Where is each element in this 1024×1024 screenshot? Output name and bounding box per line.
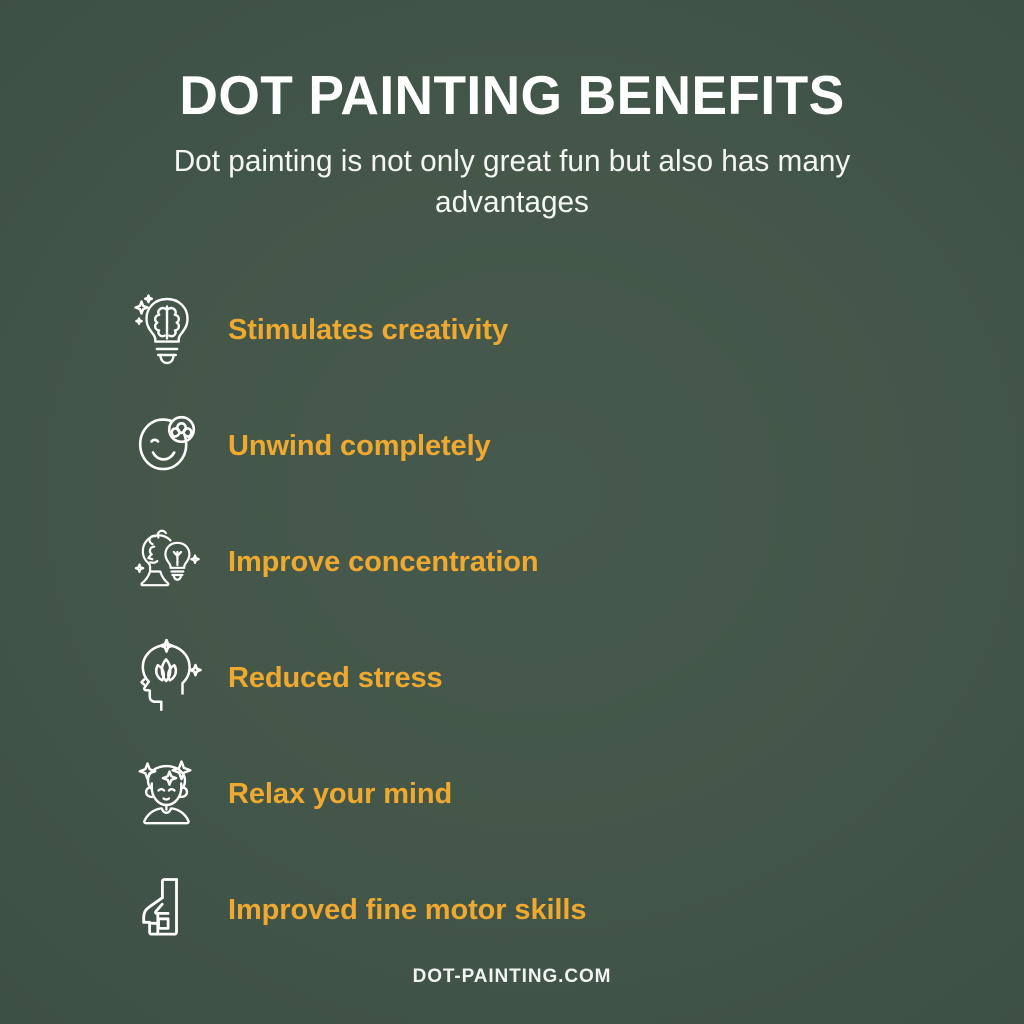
benefit-label: Improve concentration (228, 545, 539, 579)
infographic-poster: DOT PAINTING BENEFITS Dot painting is no… (0, 0, 1024, 1024)
poster-footer: DOT-PAINTING.COM (0, 966, 1024, 988)
winking-smiley-flower-icon (131, 407, 203, 485)
head-lightbulb-icon (131, 523, 203, 601)
benefit-label: Improved fine motor skills (228, 893, 586, 927)
benefit-label: Reduced stress (228, 661, 443, 695)
relaxed-face-stars-icon (131, 755, 203, 833)
benefits-list: Stimulates creativity Unwind completely (0, 272, 1024, 968)
list-item: Reduced stress (0, 620, 1024, 736)
list-item: Improved fine motor skills (0, 852, 1024, 968)
list-item: Unwind completely (0, 388, 1024, 504)
brain-lightbulb-icon (131, 291, 203, 369)
website-url: DOT-PAINTING.COM (413, 966, 612, 987)
list-item: Stimulates creativity (0, 272, 1024, 388)
list-item: Relax your mind (0, 736, 1024, 852)
page-subtitle: Dot painting is not only great fun but a… (157, 140, 867, 222)
page-title: DOT PAINTING BENEFITS (15, 64, 1008, 126)
head-lotus-icon (131, 639, 203, 717)
list-item: Improve concentration (0, 504, 1024, 620)
hand-holding-tool-icon (131, 871, 203, 949)
benefit-label: Unwind completely (228, 429, 491, 463)
benefit-label: Stimulates creativity (228, 313, 508, 347)
poster-header: DOT PAINTING BENEFITS Dot painting is no… (0, 64, 1024, 222)
benefit-label: Relax your mind (228, 777, 452, 811)
